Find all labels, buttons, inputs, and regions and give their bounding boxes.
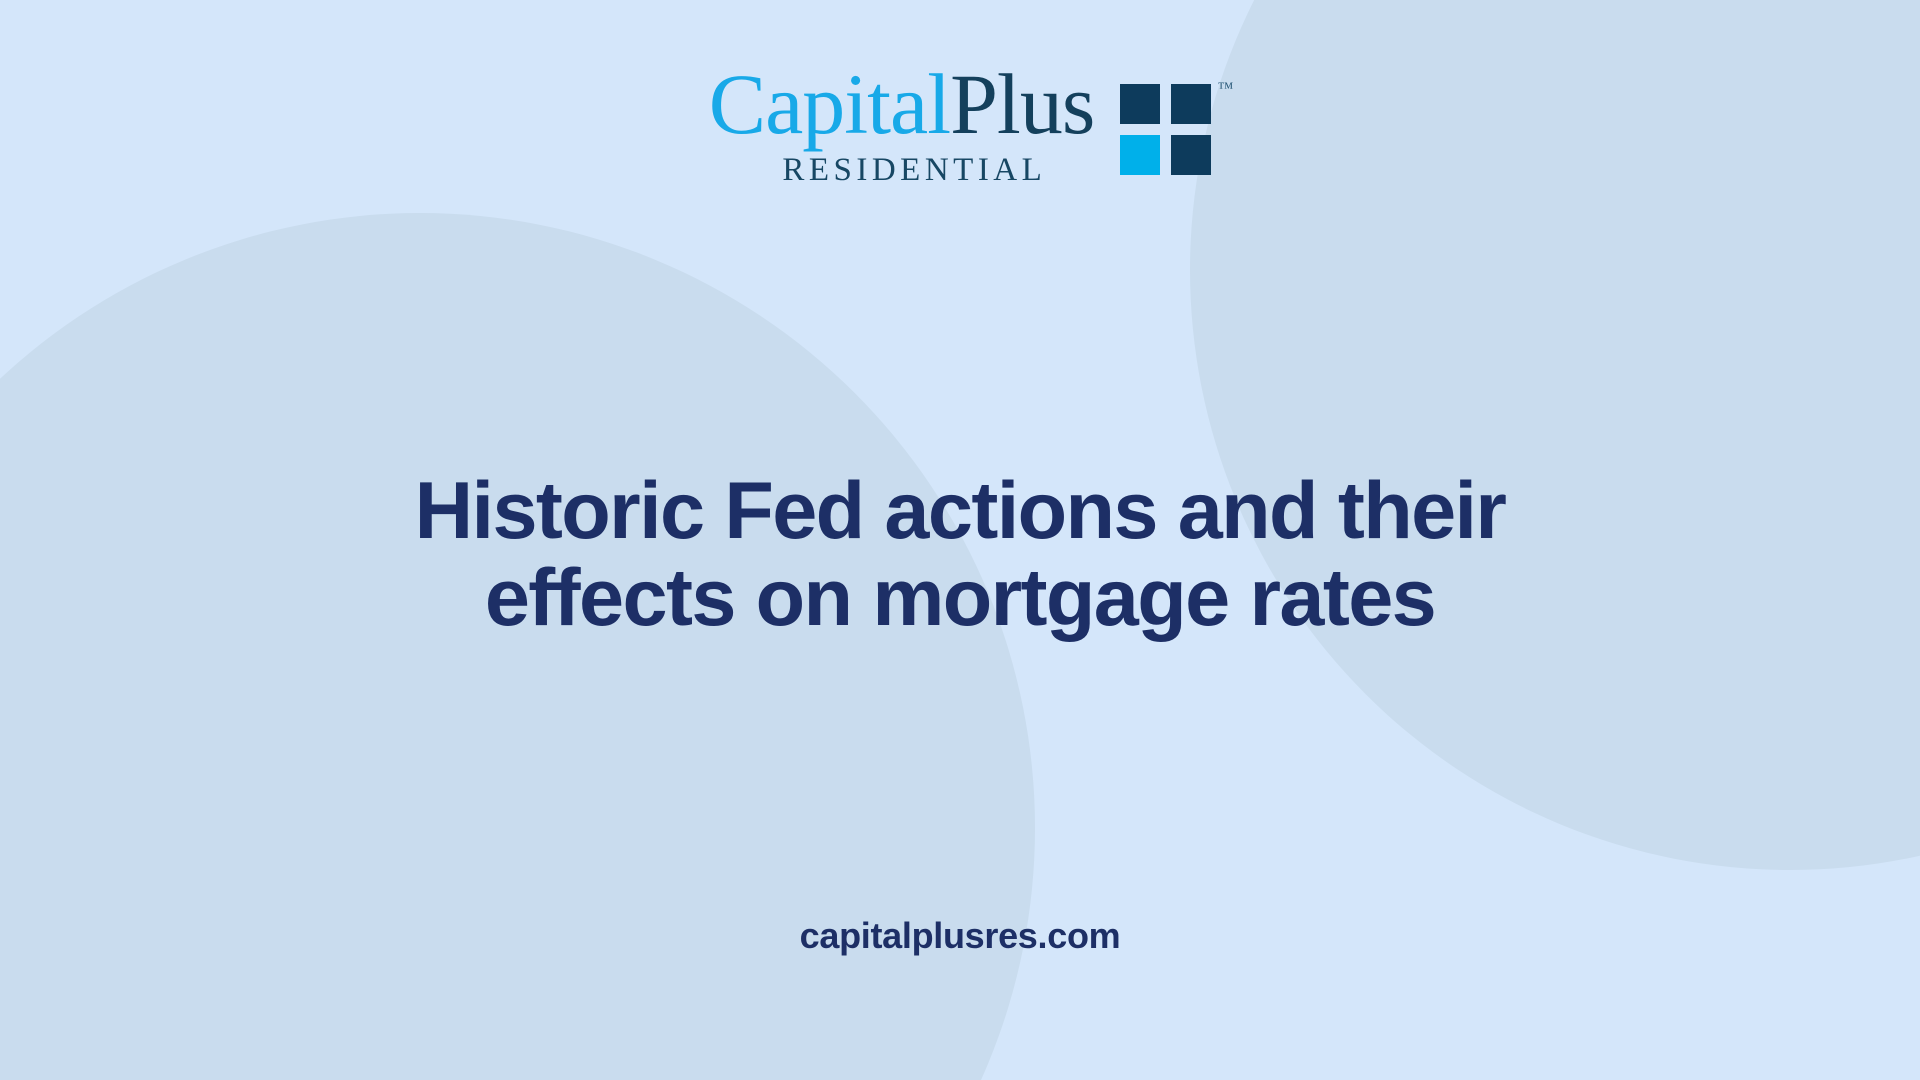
logo-wordmark-plus: Plus [950, 56, 1094, 152]
logo-wordmark: CapitalPlus [709, 62, 1095, 146]
page-title: Historic Fed actions and their effects o… [0, 468, 1920, 641]
brand-logo[interactable]: CapitalPlus RESIDENTIAL ™ [0, 62, 1920, 189]
page-title-line-2: effects on mortgage rates [120, 555, 1800, 642]
logo-squares-icon [1120, 84, 1211, 175]
square-bottom-left-icon [1120, 135, 1160, 175]
logo-tagline: RESIDENTIAL [782, 152, 1046, 189]
square-top-left-icon [1120, 84, 1160, 124]
square-top-right-icon [1171, 84, 1211, 124]
logo-mark: ™ [1120, 84, 1211, 175]
website-url[interactable]: capitalplusres.com [0, 915, 1920, 957]
square-bottom-right-icon [1171, 135, 1211, 175]
page-title-line-1: Historic Fed actions and their [120, 468, 1800, 555]
logo-wordmark-capital: Capital [709, 56, 950, 152]
trademark-symbol: ™ [1218, 80, 1234, 98]
promo-card: CapitalPlus RESIDENTIAL ™ Historic Fed a… [0, 0, 1920, 1080]
logo-wordmark-group: CapitalPlus RESIDENTIAL [709, 62, 1095, 189]
